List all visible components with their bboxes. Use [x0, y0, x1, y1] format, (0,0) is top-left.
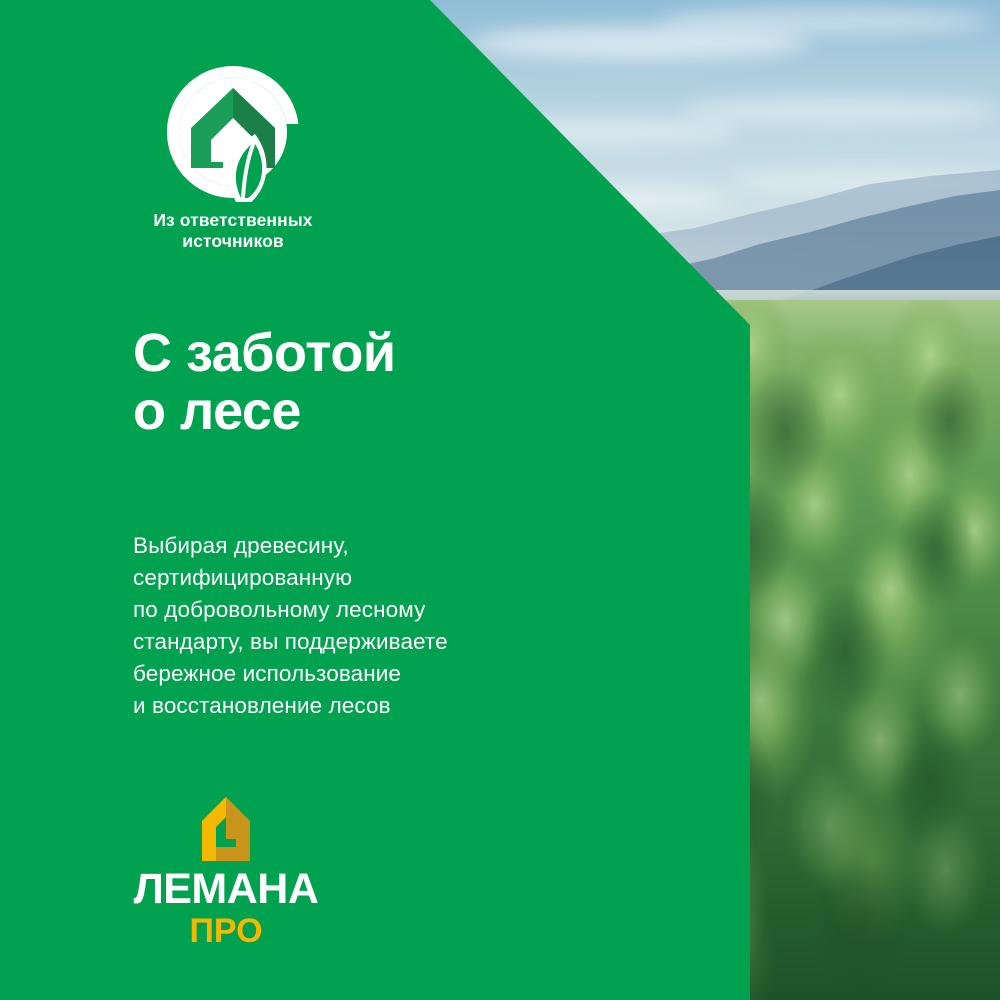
house-in-circle-with-leaf-icon	[163, 62, 303, 202]
content-layer: Из ответственных источников С заботой о …	[0, 0, 1000, 1000]
page-title: С заботой о лесе	[133, 325, 396, 441]
poster-root: Из ответственных источников С заботой о …	[0, 0, 1000, 1000]
certification-logo: Из ответственных источников	[133, 62, 333, 251]
brand-lockup: ЛЕМАНА ПРО	[133, 795, 319, 948]
body-paragraph: Выбирая древесину, сертифицированную по …	[133, 530, 448, 722]
certification-caption: Из ответственных источников	[133, 210, 333, 251]
brand-subname: ПРО	[133, 914, 319, 948]
lemana-house-icon	[194, 795, 258, 863]
brand-name: ЛЕМАНА	[133, 868, 319, 911]
